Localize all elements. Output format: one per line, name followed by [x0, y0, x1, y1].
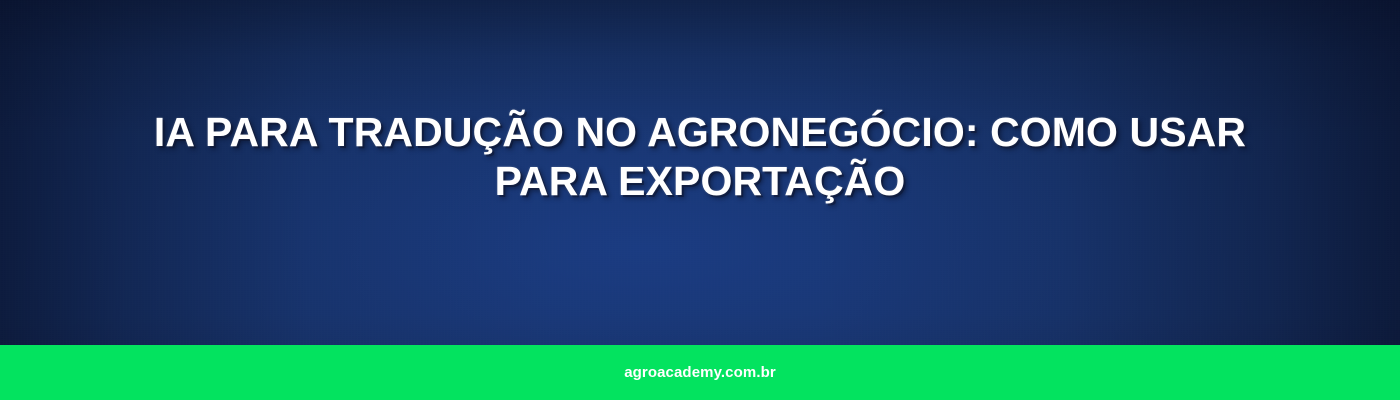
article-banner: IA PARA TRADUÇÃO NO AGRONEGÓCIO: COMO US…	[0, 0, 1400, 400]
footer-bar: agroacademy.com.br	[0, 345, 1400, 400]
site-url-label: agroacademy.com.br	[624, 364, 776, 381]
background-noise-texture	[0, 0, 1400, 400]
